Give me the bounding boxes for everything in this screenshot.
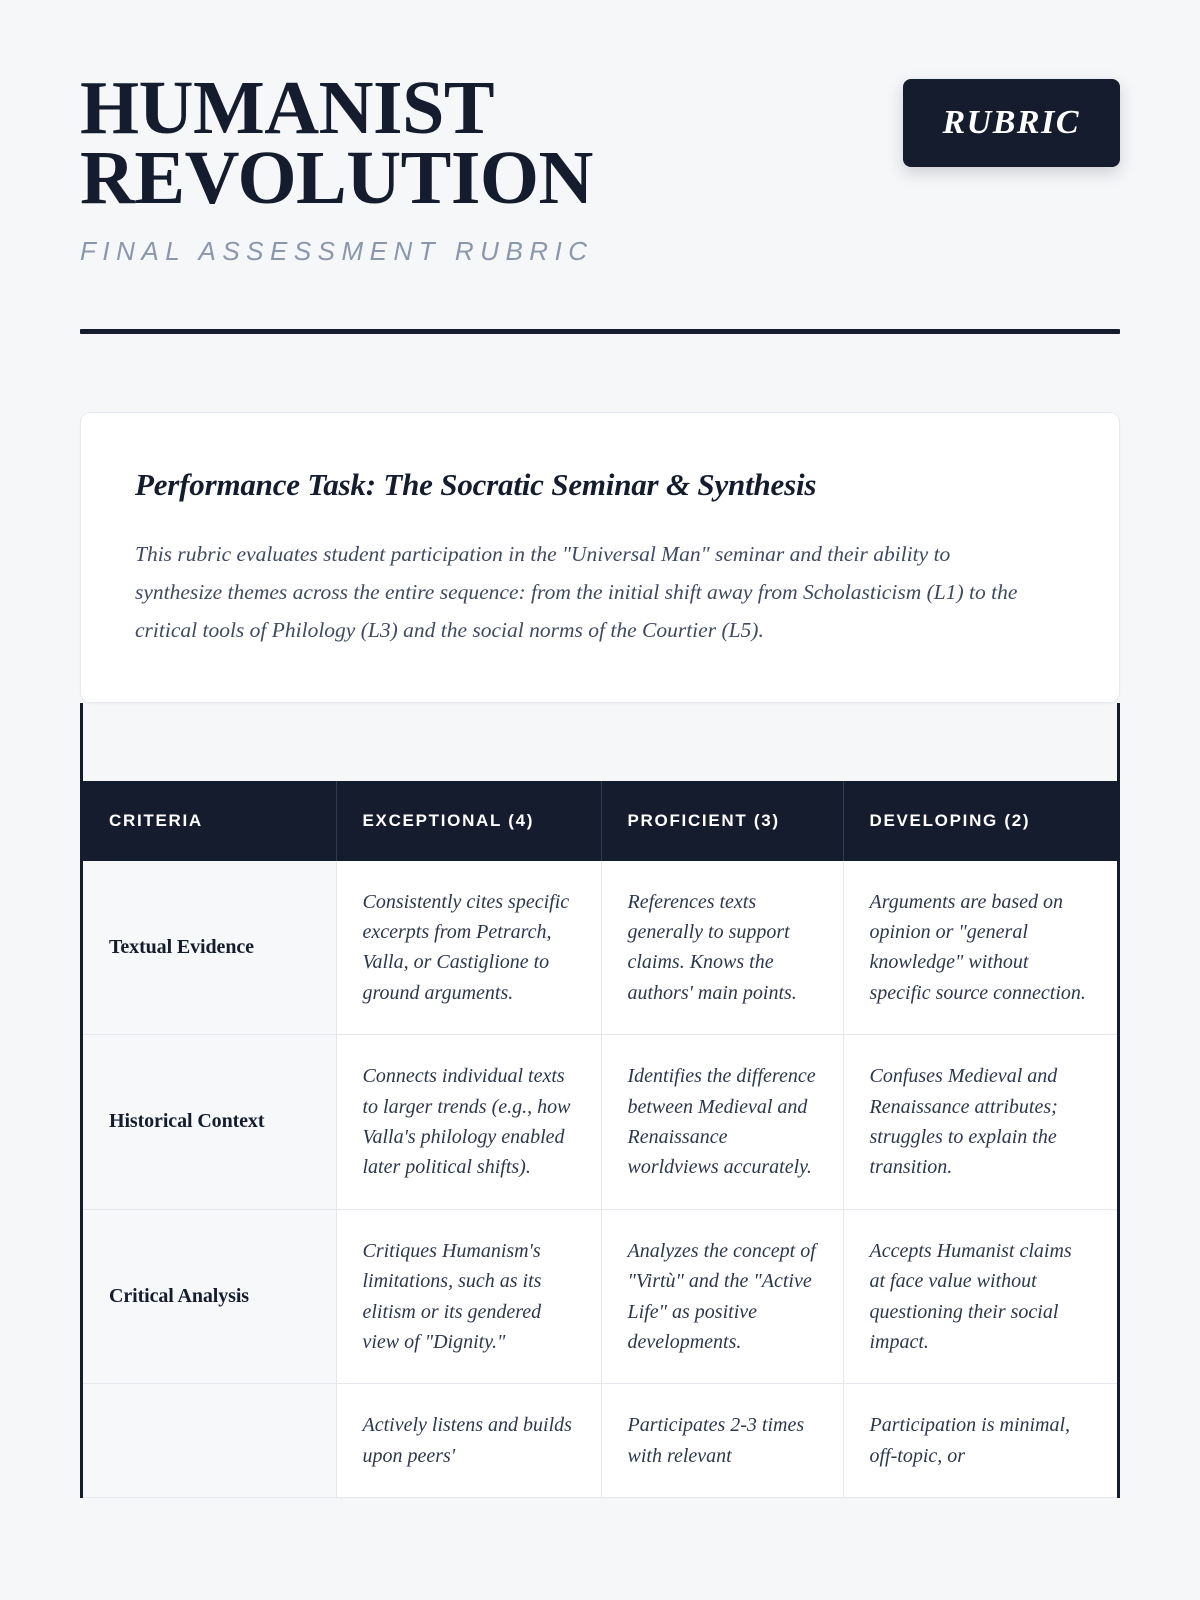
- cell-developing: Accepts Humanist claims at face value wi…: [843, 1209, 1117, 1384]
- header-divider-rule: [80, 329, 1120, 334]
- page-subtitle: FINAL ASSESSMENT RUBRIC: [80, 236, 594, 267]
- column-header-proficient: PROFICIENT (3): [601, 781, 843, 861]
- column-header-exceptional: EXCEPTIONAL (4): [336, 781, 601, 861]
- title-block: HUMANIST REVOLUTION FINAL ASSESSMENT RUB…: [80, 74, 594, 267]
- performance-task-description: This rubric evaluates student participat…: [135, 535, 1040, 650]
- criteria-label: Textual Evidence: [83, 861, 336, 1035]
- table-row: Textual Evidence Consistently cites spec…: [83, 861, 1117, 1035]
- cell-developing: Confuses Medieval and Renaissance attrib…: [843, 1035, 1117, 1210]
- cell-proficient: References texts generally to support cl…: [601, 861, 843, 1035]
- cell-exceptional: Connects individual texts to larger tren…: [336, 1035, 601, 1210]
- rubric-page: HUMANIST REVOLUTION FINAL ASSESSMENT RUB…: [0, 0, 1200, 1600]
- table-row: Historical Context Connects individual t…: [83, 1035, 1117, 1210]
- rubric-table-wrapper: CRITERIA EXCEPTIONAL (4) PROFICIENT (3) …: [80, 703, 1120, 1498]
- page-title-line-1: HUMANIST: [80, 74, 594, 144]
- criteria-label: Critical Analysis: [83, 1209, 336, 1384]
- cell-proficient: Participates 2-3 times with relevant: [601, 1384, 843, 1498]
- criteria-label: [83, 1384, 336, 1498]
- cell-exceptional: Critiques Humanism's limitations, such a…: [336, 1209, 601, 1384]
- column-header-developing: DEVELOPING (2): [843, 781, 1117, 861]
- cell-exceptional: Actively listens and builds upon peers': [336, 1384, 601, 1498]
- performance-task-title: Performance Task: The Socratic Seminar &…: [135, 467, 1065, 503]
- cell-developing: Arguments are based on opinion or "gener…: [843, 861, 1117, 1035]
- criteria-label: Historical Context: [83, 1035, 336, 1210]
- page-header: HUMANIST REVOLUTION FINAL ASSESSMENT RUB…: [80, 0, 1120, 334]
- table-row: Actively listens and builds upon peers' …: [83, 1384, 1117, 1498]
- cell-proficient: Identifies the difference between Mediev…: [601, 1035, 843, 1210]
- page-title: HUMANIST REVOLUTION: [80, 74, 594, 214]
- column-header-criteria: CRITERIA: [83, 781, 336, 861]
- page-title-line-2: REVOLUTION: [80, 144, 594, 214]
- table-row: Critical Analysis Critiques Humanism's l…: [83, 1209, 1117, 1384]
- rubric-table: CRITERIA EXCEPTIONAL (4) PROFICIENT (3) …: [83, 781, 1117, 1498]
- performance-task-card: Performance Task: The Socratic Seminar &…: [80, 412, 1120, 703]
- rubric-table-head: CRITERIA EXCEPTIONAL (4) PROFICIENT (3) …: [83, 781, 1117, 861]
- cell-exceptional: Consistently cites specific excerpts fro…: [336, 861, 601, 1035]
- rubric-badge: RUBRIC: [903, 79, 1121, 167]
- cell-proficient: Analyzes the concept of "Virtù" and the …: [601, 1209, 843, 1384]
- rubric-header-row: CRITERIA EXCEPTIONAL (4) PROFICIENT (3) …: [83, 781, 1117, 861]
- rubric-table-body: Textual Evidence Consistently cites spec…: [83, 861, 1117, 1498]
- cell-developing: Participation is minimal, off-topic, or: [843, 1384, 1117, 1498]
